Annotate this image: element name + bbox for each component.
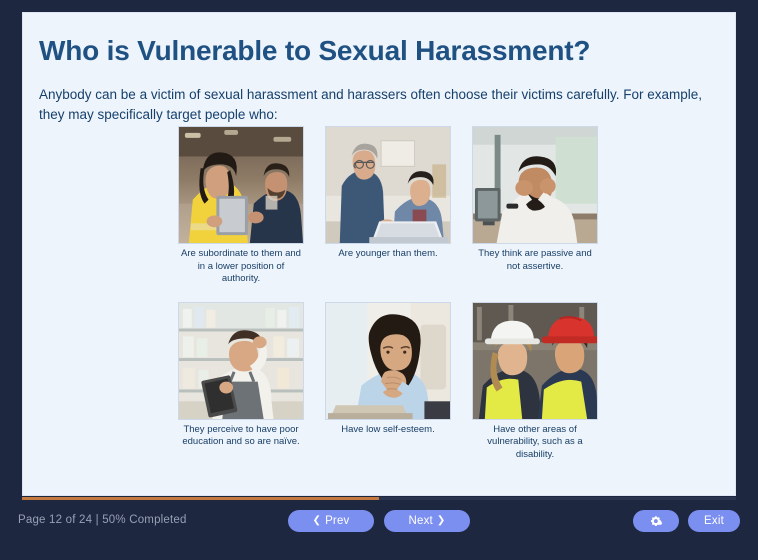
player-footer: Page 12 of 24 | 50% Completed ❮ Prev Nex… [0,498,758,560]
card-caption: Are younger than them. [325,248,451,261]
card-item: Are younger than them. [325,126,451,286]
photo-bearded-man-head-in-hands-at-desk [472,126,598,244]
photo-woman-and-man-with-tablet-in-warehouse [178,126,304,244]
card-caption: They perceive to have poor education and… [178,424,304,449]
next-button-label: Next [408,515,432,527]
photo-older-man-standing-over-young-man-at-laptop [325,126,451,244]
card-item: Have other areas of vulnerability, such … [472,302,598,462]
exit-button-label: Exit [704,515,724,527]
gear-icon [649,515,664,528]
card-item: Are subordinate to them and in a lower p… [178,126,304,286]
photo-woman-with-clasped-hands-at-laptop [325,302,451,420]
vulnerability-card-grid: Are subordinate to them and in a lower p… [178,126,598,461]
card-item: Have low self-esteem. [325,302,451,462]
progress-bar-fill [22,497,379,500]
prev-button-label: Prev [325,515,349,527]
card-caption: Have other areas of vulnerability, such … [472,424,598,462]
card-caption: They think are passive and not assertive… [472,248,598,273]
player-right-controls: Exit [633,510,740,532]
prev-button[interactable]: ❮ Prev [288,510,374,532]
card-row-2: They perceive to have poor education and… [178,302,598,462]
card-caption: Are subordinate to them and in a lower p… [178,248,304,286]
photo-woman-in-apron-with-clipboard-in-store [178,302,304,420]
progress-bar-track[interactable] [22,497,736,500]
page-title: Who is Vulnerable to Sexual Harassment? [39,35,590,67]
exit-button[interactable]: Exit [688,510,740,532]
photo-two-workers-in-hard-hats-and-hi-vis [472,302,598,420]
card-item: They perceive to have poor education and… [178,302,304,462]
chevron-left-icon: ❮ [312,516,321,526]
card-item: They think are passive and not assertive… [472,126,598,286]
chevron-right-icon: ❯ [437,516,446,526]
slide-intro-text: Anybody can be a victim of sexual harass… [39,85,707,124]
card-caption: Have low self-esteem. [325,424,451,437]
next-button[interactable]: Next ❯ [384,510,470,532]
settings-button[interactable] [633,510,679,532]
course-player-frame: Who is Vulnerable to Sexual Harassment? … [0,0,758,560]
slide-canvas: Who is Vulnerable to Sexual Harassment? … [22,12,736,496]
card-row-1: Are subordinate to them and in a lower p… [178,126,598,286]
